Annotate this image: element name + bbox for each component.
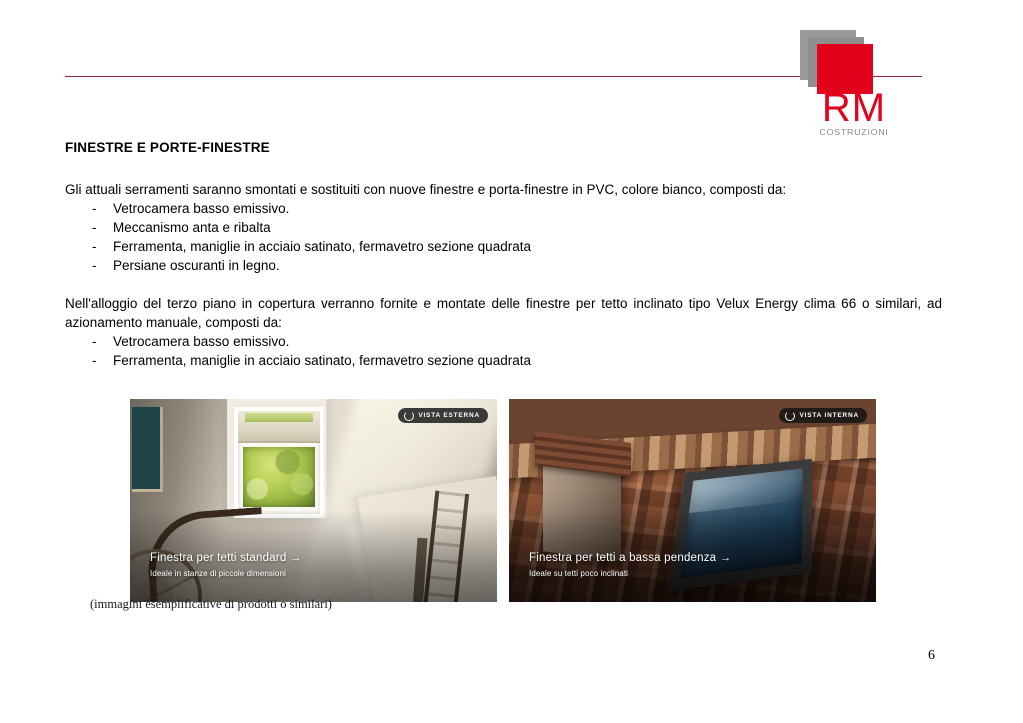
header-rule: [65, 76, 922, 77]
figure-caption-subtitle: Ideale in stanze di piccole dimensioni: [150, 568, 302, 580]
list-skylights-components: Vetrocamera basso emissivo. Ferramenta, …: [65, 332, 942, 370]
list-item: Ferramenta, maniglie in acciaio satinato…: [65, 351, 942, 370]
rotate-360-icon: [404, 411, 414, 421]
rotate-360-icon: [785, 411, 795, 421]
figure-caption-title[interactable]: Finestra per tetti a bassa pendenza →: [529, 551, 731, 566]
skylight-glass-foliage: [243, 447, 315, 507]
list-item: Meccanismo anta e ribalta: [65, 218, 942, 237]
page-number: 6: [928, 648, 935, 664]
page-title: FINESTRE E PORTE-FINESTRE: [65, 140, 942, 156]
document-content: FINESTRE E PORTE-FINESTRE Gli attuali se…: [65, 140, 942, 370]
list-item: Vetrocamera basso emissivo.: [65, 332, 942, 351]
paragraph-windows-intro: Gli attuali serramenti saranno smontati …: [65, 180, 942, 199]
list-item: Ferramenta, maniglie in acciaio satinato…: [65, 237, 942, 256]
badge-label: VISTA INTERNA: [799, 412, 859, 419]
paragraph-spacer: [65, 275, 942, 294]
badge-vista-interna[interactable]: VISTA INTERNA: [779, 408, 867, 423]
wall-picture-frame: [132, 407, 163, 492]
logo-subtitle: COSTRUZIONI: [802, 128, 905, 137]
logo-wordmark: RM: [808, 89, 900, 127]
figure-caption-title[interactable]: Finestra per tetti standard →: [150, 551, 302, 566]
skylight-frame: [234, 407, 324, 518]
figure-caption-subtitle: Ideale su tetti poco inclinati: [529, 568, 731, 580]
figure-note: (immagini esemplificative di prodotti o …: [90, 597, 332, 612]
list-windows-components: Vetrocamera basso emissivo. Meccanismo a…: [65, 199, 942, 275]
figure-caption: Finestra per tetti standard → Ideale in …: [150, 551, 302, 580]
badge-vista-esterna[interactable]: VISTA ESTERNA: [398, 408, 488, 423]
list-item: Vetrocamera basso emissivo.: [65, 199, 942, 218]
figure-finestra-tetti-bassa-pendenza: VISTA INTERNA Finestra per tetti a bassa…: [509, 399, 876, 602]
badge-label: VISTA ESTERNA: [418, 412, 480, 419]
figure-group: VISTA ESTERNA Finestra per tetti standar…: [90, 383, 836, 586]
document-page: RM COSTRUZIONI FINESTRE E PORTE-FINESTRE…: [0, 0, 1023, 723]
list-item: Persiane oscuranti in legno.: [65, 256, 942, 275]
figure-finestra-tetti-standard: VISTA ESTERNA Finestra per tetti standar…: [130, 399, 497, 602]
paragraph-skylights-intro: Nell'alloggio del terzo piano in copertu…: [65, 294, 942, 332]
rm-costruzioni-logo: RM COSTRUZIONI: [800, 27, 910, 130]
figure-caption: Finestra per tetti a bassa pendenza → Id…: [529, 551, 731, 580]
skylight-upper-glass: [245, 413, 313, 422]
